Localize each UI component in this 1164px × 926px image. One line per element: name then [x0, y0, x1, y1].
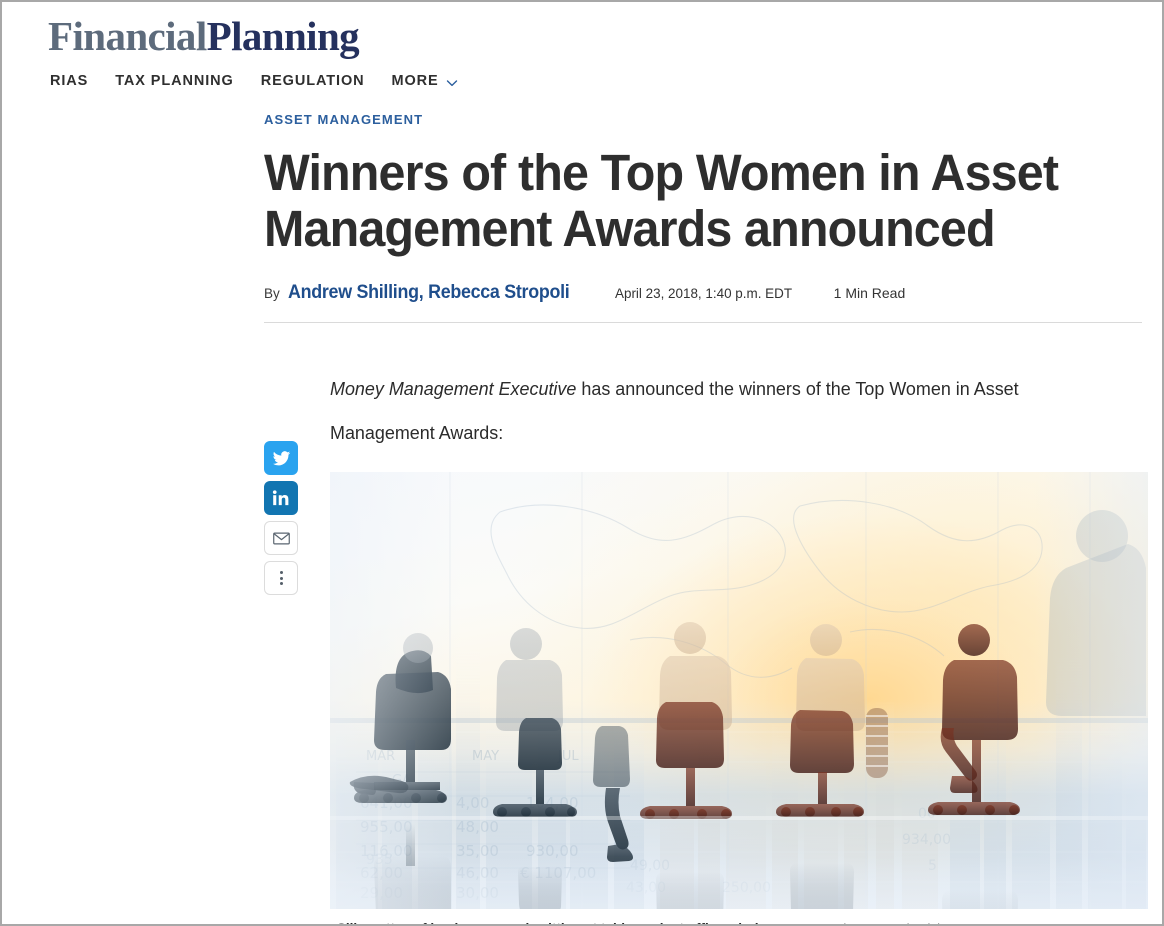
image-caption: Silhouettes of business people sitting a…: [330, 919, 1148, 926]
caption-text: Silhouettes of business people sitting a…: [337, 919, 778, 926]
nav-item-rias[interactable]: RIAS: [50, 73, 88, 89]
share-email-button[interactable]: [264, 521, 298, 555]
nav-item-label: REGULATION: [261, 73, 365, 89]
page-title: Winners of the Top Women in Asset Manage…: [264, 145, 1067, 256]
article-kicker[interactable]: ASSET MANAGEMENT: [264, 112, 423, 127]
chevron-down-icon: [446, 77, 457, 88]
article-container: ASSET MANAGEMENT Winners of the Top Wome…: [2, 111, 1162, 926]
page-root: FinancialPlanning RIAS TAX PLANNING REGU…: [0, 0, 1164, 926]
byline-by-label: By: [264, 286, 280, 301]
caption-credit: Sergey Nivens - stock.adobe.com: [790, 922, 977, 926]
nav-item-label: RIAS: [50, 73, 88, 89]
twitter-icon: [272, 449, 291, 468]
article-lede-paragraph: Money Management Executive has announced…: [330, 367, 1052, 454]
byline-timestamp: April 23, 2018, 1:40 p.m. EDT: [615, 285, 792, 301]
envelope-icon: [272, 529, 291, 548]
nav-item-label: MORE: [392, 73, 439, 89]
nav-item-more[interactable]: MORE: [392, 73, 457, 89]
more-options-icon: [280, 571, 283, 585]
share-twitter-button[interactable]: [264, 441, 298, 475]
share-more-button[interactable]: [264, 561, 298, 595]
byline-authors-link[interactable]: Andrew Shilling, Rebecca Stropoli: [288, 282, 569, 304]
logo-word-planning: Planning: [207, 13, 359, 59]
nav-item-regulation[interactable]: REGULATION: [261, 73, 365, 89]
nav-item-label: TAX PLANNING: [115, 73, 233, 89]
share-linkedin-button[interactable]: [264, 481, 298, 515]
byline: By Andrew Shilling, Rebecca Stropoli Apr…: [264, 282, 1144, 304]
site-masthead: FinancialPlanning: [2, 2, 1162, 60]
linkedin-icon: [272, 489, 290, 507]
hero-people-silhouettes: [330, 472, 1148, 909]
article-body: Money Management Executive has announced…: [264, 323, 1144, 926]
publication-name-italic: Money Management Executive: [330, 378, 576, 399]
site-logo[interactable]: FinancialPlanning: [48, 12, 1162, 60]
article-hero-figure: MAR MAY JUL GA 641,00 4,00 104,00 955,00…: [330, 472, 1148, 926]
logo-word-financial: Financial: [48, 13, 207, 59]
hero-image: MAR MAY JUL GA 641,00 4,00 104,00 955,00…: [330, 472, 1148, 909]
share-rail: [264, 441, 304, 595]
nav-item-tax-planning[interactable]: TAX PLANNING: [115, 73, 233, 89]
byline-read-time: 1 Min Read: [834, 285, 906, 301]
main-navigation: RIAS TAX PLANNING REGULATION MORE: [2, 60, 1162, 89]
